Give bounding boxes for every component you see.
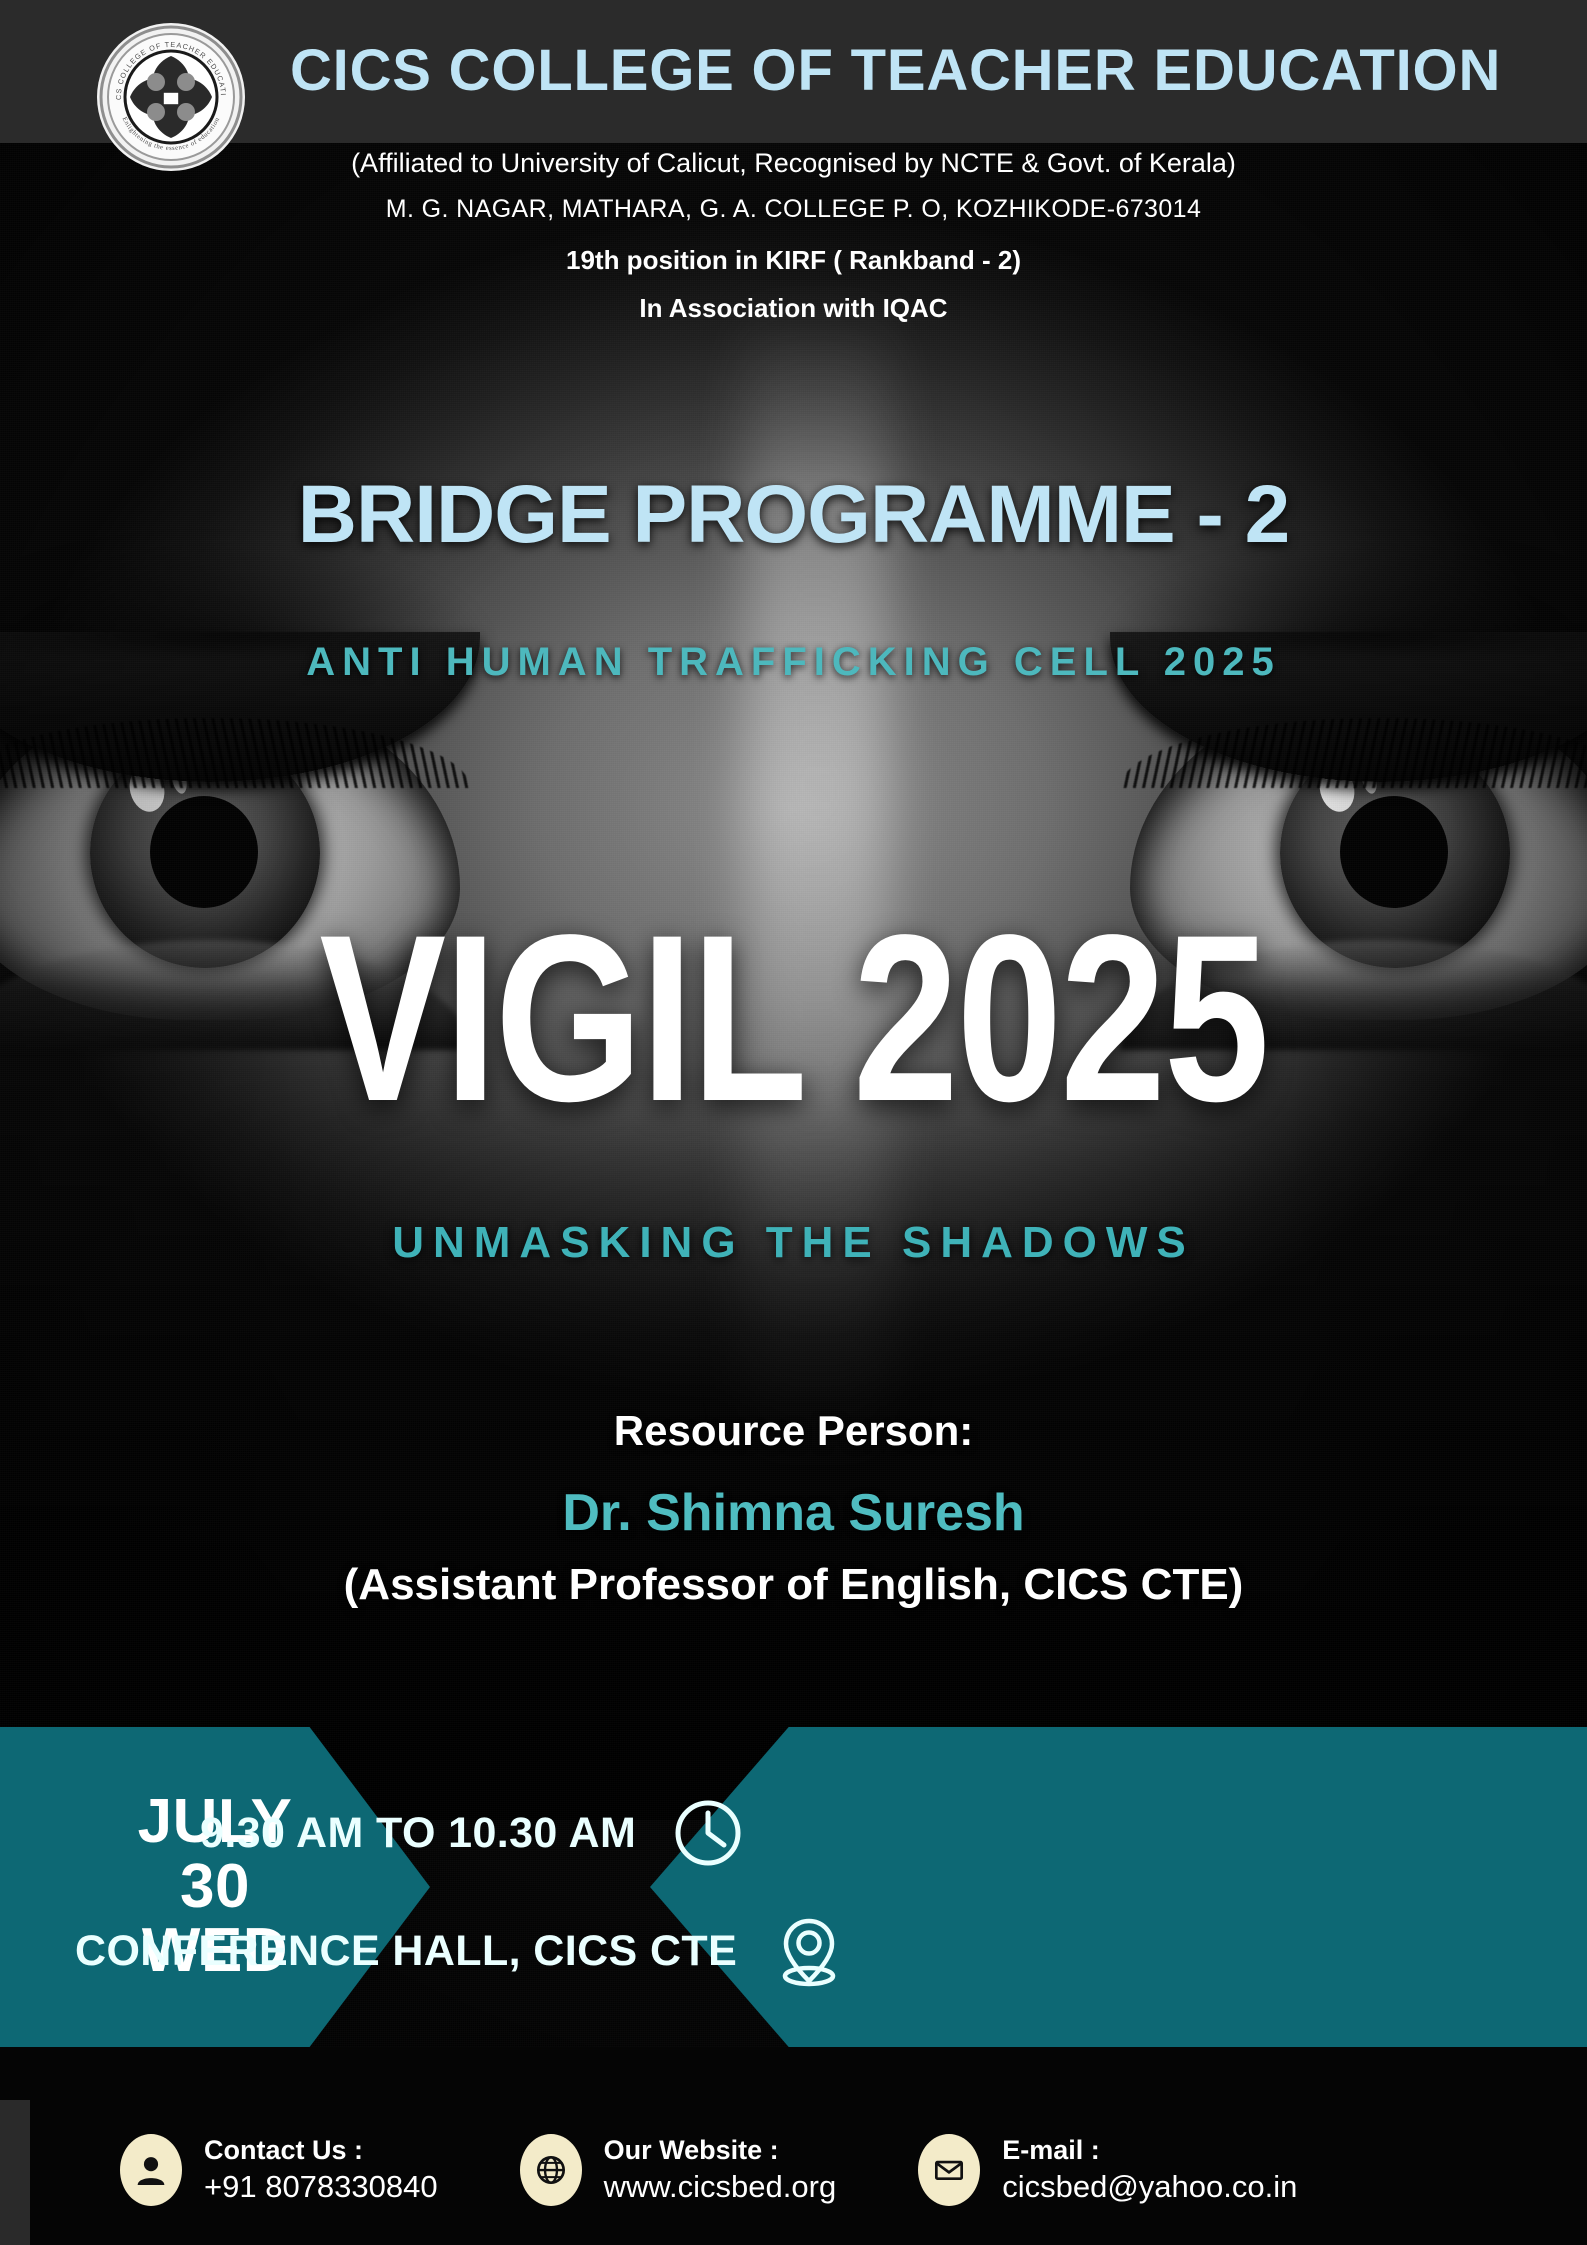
address-text: M. G. NAGAR, MATHARA, G. A. COLLEGE P. O… xyxy=(0,195,1587,224)
event-title: VIGIL 2025 xyxy=(0,900,1587,1138)
footer-label: Contact Us : xyxy=(204,2135,363,2165)
footer-website-item[interactable]: Our Website : www.cicsbed.org xyxy=(520,2134,837,2207)
programme-title: BRIDGE PROGRAMME - 2 xyxy=(0,468,1587,562)
footer-value[interactable]: cicsbed@yahoo.co.in xyxy=(1002,2169,1297,2204)
footer-email-item[interactable]: E-mail : cicsbed@yahoo.co.in xyxy=(918,2134,1297,2207)
time-text: 9.30 AM TO 10.30 AM xyxy=(200,1809,636,1858)
date-block: JULY 30 WED xyxy=(0,1727,430,2047)
footer-value[interactable]: www.cicsbed.org xyxy=(604,2169,837,2204)
footer-label: Our Website : xyxy=(604,2135,779,2165)
location-pin-icon xyxy=(771,1913,847,1989)
footer-value[interactable]: +91 8078330840 xyxy=(204,2169,438,2204)
time-row: 9.30 AM TO 10.30 AM xyxy=(200,1795,746,1871)
clock-icon xyxy=(670,1795,746,1871)
globe-icon xyxy=(520,2134,582,2206)
event-details-banner: JULY 30 WED 9.30 AM TO 10.30 AM CONFEREN… xyxy=(0,1727,1587,2047)
footer-contact-item[interactable]: Contact Us : +91 8078330840 xyxy=(120,2134,438,2207)
resource-person-designation: (Assistant Professor of English, CICS CT… xyxy=(0,1560,1587,1610)
envelope-icon xyxy=(918,2134,980,2206)
cell-subtitle: ANTI HUMAN TRAFFICKING CELL 2025 xyxy=(0,640,1587,685)
ranking-text: 19th position in KIRF ( Rankband - 2) xyxy=(0,245,1587,276)
association-text: In Association with IQAC xyxy=(0,293,1587,324)
venue-row: CONFERENCE HALL, CICS CTE xyxy=(75,1913,847,1989)
time-venue-block xyxy=(650,1727,1587,2047)
poster-canvas: CICS COLLEGE OF TEACHER EDUCATION Enligh… xyxy=(0,0,1587,2245)
footer-contact-list: Contact Us : +91 8078330840 Our Website … xyxy=(0,2110,1587,2230)
college-logo-icon: CICS COLLEGE OF TEACHER EDUCATION Enligh… xyxy=(96,22,246,172)
college-name-title: CICS COLLEGE OF TEACHER EDUCATION xyxy=(290,37,1501,104)
event-tagline: UNMASKING THE SHADOWS xyxy=(0,1218,1587,1268)
venue-text: CONFERENCE HALL, CICS CTE xyxy=(75,1927,737,1976)
footer-label: E-mail : xyxy=(1002,2135,1100,2165)
resource-person-label: Resource Person: xyxy=(0,1407,1587,1455)
person-icon xyxy=(120,2134,182,2206)
resource-person-name: Dr. Shimna Suresh xyxy=(0,1483,1587,1543)
